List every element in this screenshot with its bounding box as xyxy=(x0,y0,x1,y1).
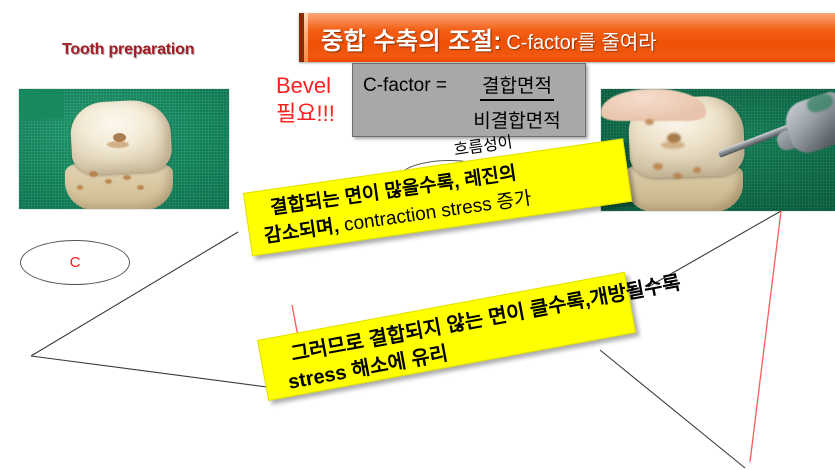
slide-canvas: 중합 수축의 조절: C-factor를 줄여라 Tooth preparati… xyxy=(0,0,835,470)
callout-1-line-b-bold: 감소되며, xyxy=(263,216,340,248)
c-marker-left: C xyxy=(20,240,130,285)
leader-line-left-lower xyxy=(31,356,290,390)
leader-lines xyxy=(0,0,835,470)
leader-line-right-lower xyxy=(600,350,745,468)
c-label-left: C xyxy=(20,254,130,271)
connector-line-red-right xyxy=(750,211,781,462)
